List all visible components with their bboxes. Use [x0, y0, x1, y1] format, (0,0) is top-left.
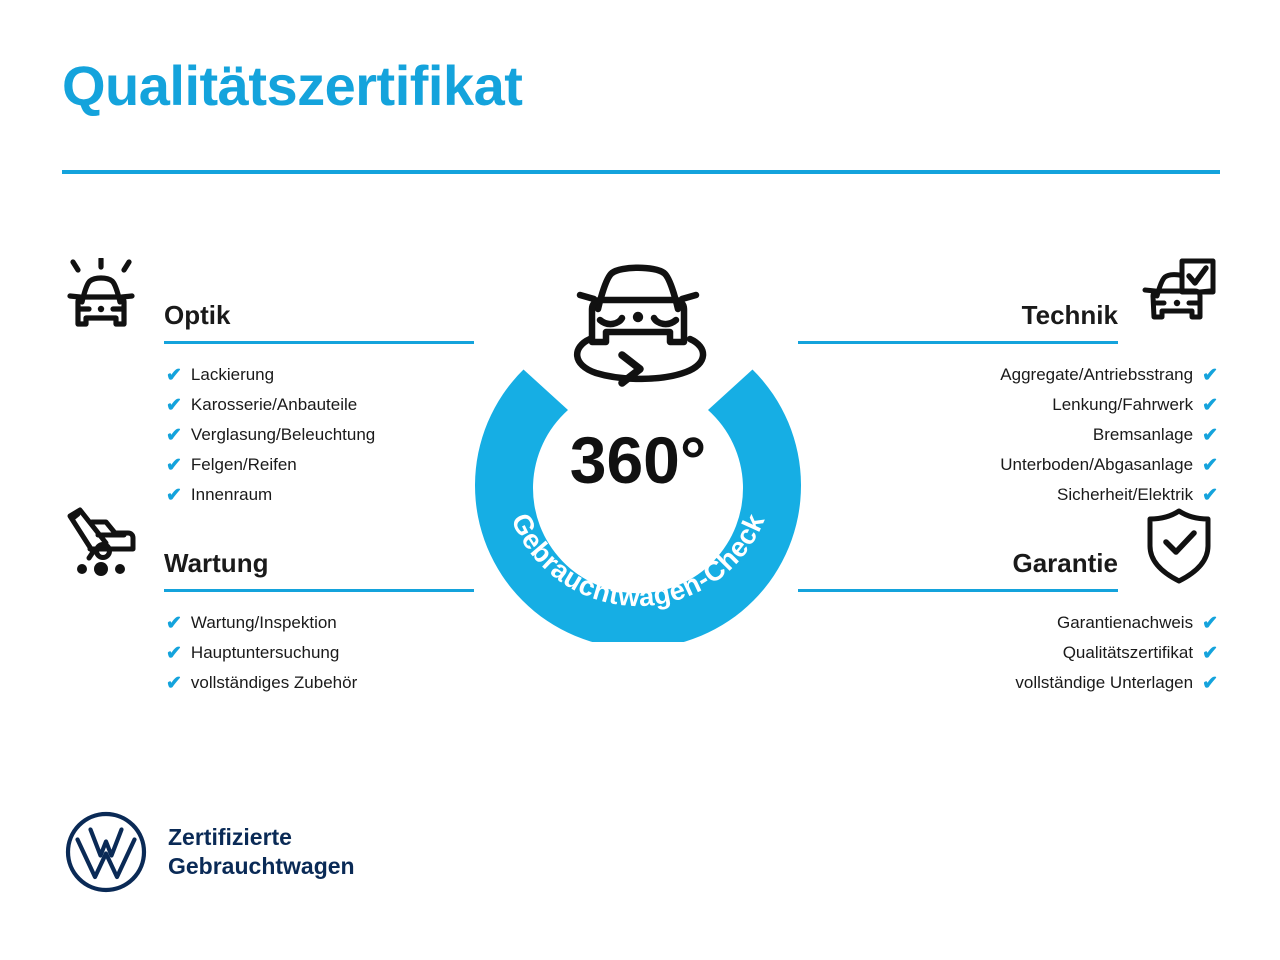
vw-certified-lockup: Zertifizierte Gebrauchtwagen: [64, 810, 355, 894]
list-item-label: Sicherheit/Elektrik: [1057, 485, 1193, 505]
check-icon: ✔: [166, 644, 182, 663]
list-item: Garantienachweis ✔: [798, 608, 1218, 638]
list-item: ✔ Wartung/Inspektion: [62, 608, 474, 638]
check-icon: ✔: [166, 426, 182, 445]
check-icon: ✔: [1202, 644, 1218, 663]
list-item-label: vollständige Unterlagen: [1015, 673, 1193, 693]
vw-lockup-line1: Zertifizierte: [168, 823, 355, 852]
section-title-garantie: Garantie: [1013, 506, 1119, 576]
check-icon: ✔: [166, 674, 182, 693]
car-service-pen-icon: [62, 506, 140, 586]
list-item-label: Bremsanlage: [1093, 425, 1193, 445]
list-item-label: Innenraum: [191, 485, 272, 505]
list-item: Lenkung/Fahrwerk ✔: [798, 390, 1218, 420]
car-shine-icon: [62, 258, 140, 338]
section-optik: Optik ✔ Lackierung ✔ Karosserie/Anbautei…: [62, 258, 474, 510]
section-header-optik: Optik: [62, 258, 474, 350]
car-checkbox-icon: [1140, 258, 1218, 338]
list-item: Qualitätszertifikat ✔: [798, 638, 1218, 668]
list-item-label: Aggregate/Antriebsstrang: [1000, 365, 1193, 385]
list-item-label: Unterboden/Abgasanlage: [1000, 455, 1193, 475]
section-divider-garantie: [798, 589, 1118, 592]
list-item: ✔ vollständiges Zubehör: [62, 668, 474, 698]
check-icon: ✔: [1202, 426, 1218, 445]
section-header-technik: Technik: [798, 258, 1218, 350]
list-item-label: Garantienachweis: [1057, 613, 1193, 633]
badge-360-gebrauchtwagen-check: 360° Gebrauchtwagen-Check: [462, 252, 814, 642]
check-list-technik: Aggregate/Antriebsstrang ✔ Lenkung/Fahrw…: [798, 350, 1218, 510]
list-item: vollständige Unterlagen ✔: [798, 668, 1218, 698]
section-divider-optik: [164, 341, 474, 344]
check-icon: ✔: [1202, 674, 1218, 693]
section-title-technik: Technik: [1022, 258, 1118, 328]
check-icon: ✔: [1202, 456, 1218, 475]
section-divider-technik: [798, 341, 1118, 344]
list-item: ✔ Karosserie/Anbauteile: [62, 390, 474, 420]
shield-check-icon: [1140, 506, 1218, 586]
list-item-label: Lackierung: [191, 365, 274, 385]
list-item: ✔ Lackierung: [62, 360, 474, 390]
section-title-wrap-technik: Technik: [798, 258, 1140, 344]
check-icon: ✔: [1202, 366, 1218, 385]
section-title-optik: Optik: [164, 258, 474, 328]
check-icon: ✔: [1202, 486, 1218, 505]
section-wartung: Wartung ✔ Wartung/Inspektion ✔ Hauptunte…: [62, 506, 474, 698]
list-item-label: Verglasung/Beleuchtung: [191, 425, 375, 445]
list-item-label: Qualitätszertifikat: [1063, 643, 1193, 663]
check-icon: ✔: [166, 366, 182, 385]
list-item: ✔ Hauptuntersuchung: [62, 638, 474, 668]
section-divider-wartung: [164, 589, 474, 592]
section-title-wrap-optik: Optik: [140, 258, 474, 344]
header-divider: [62, 170, 1220, 174]
page-title: Qualitätszertifikat: [62, 54, 522, 118]
list-item-label: Karosserie/Anbauteile: [191, 395, 357, 415]
section-title-wrap-wartung: Wartung: [140, 506, 474, 592]
section-header-garantie: Garantie: [798, 506, 1218, 598]
list-item-label: Wartung/Inspektion: [191, 613, 337, 633]
check-icon: ✔: [166, 396, 182, 415]
badge-center-label: 360°: [570, 423, 707, 497]
list-item: Aggregate/Antriebsstrang ✔: [798, 360, 1218, 390]
check-icon: ✔: [166, 486, 182, 505]
vw-lockup-line2: Gebrauchtwagen: [168, 852, 355, 881]
list-item: Bremsanlage ✔: [798, 420, 1218, 450]
list-item: ✔ Felgen/Reifen: [62, 450, 474, 480]
check-icon: ✔: [1202, 614, 1218, 633]
vw-lockup-text: Zertifizierte Gebrauchtwagen: [168, 823, 355, 882]
section-header-wartung: Wartung: [62, 506, 474, 598]
check-list-optik: ✔ Lackierung ✔ Karosserie/Anbauteile ✔ V…: [62, 350, 474, 510]
volkswagen-logo: [64, 810, 148, 894]
list-item-label: Hauptuntersuchung: [191, 643, 339, 663]
check-list-wartung: ✔ Wartung/Inspektion ✔ Hauptuntersuchung…: [62, 598, 474, 698]
car-rotate-360-icon: [577, 268, 703, 383]
quality-certificate-page: Qualitätszertifikat Optik: [0, 0, 1280, 960]
section-title-wartung: Wartung: [164, 506, 474, 576]
section-technik: Technik Aggregate/Antriebsstrang ✔ Lenku…: [798, 258, 1218, 510]
check-icon: ✔: [1202, 396, 1218, 415]
list-item-label: vollständiges Zubehör: [191, 673, 357, 693]
check-list-garantie: Garantienachweis ✔ Qualitätszertifikat ✔…: [798, 598, 1218, 698]
section-garantie: Garantie Garantienachweis ✔ Qualitätszer…: [798, 506, 1218, 698]
list-item: Unterboden/Abgasanlage ✔: [798, 450, 1218, 480]
section-title-wrap-garantie: Garantie: [798, 506, 1140, 592]
list-item-label: Lenkung/Fahrwerk: [1052, 395, 1193, 415]
list-item: ✔ Verglasung/Beleuchtung: [62, 420, 474, 450]
check-icon: ✔: [166, 614, 182, 633]
list-item-label: Felgen/Reifen: [191, 455, 297, 475]
check-icon: ✔: [166, 456, 182, 475]
